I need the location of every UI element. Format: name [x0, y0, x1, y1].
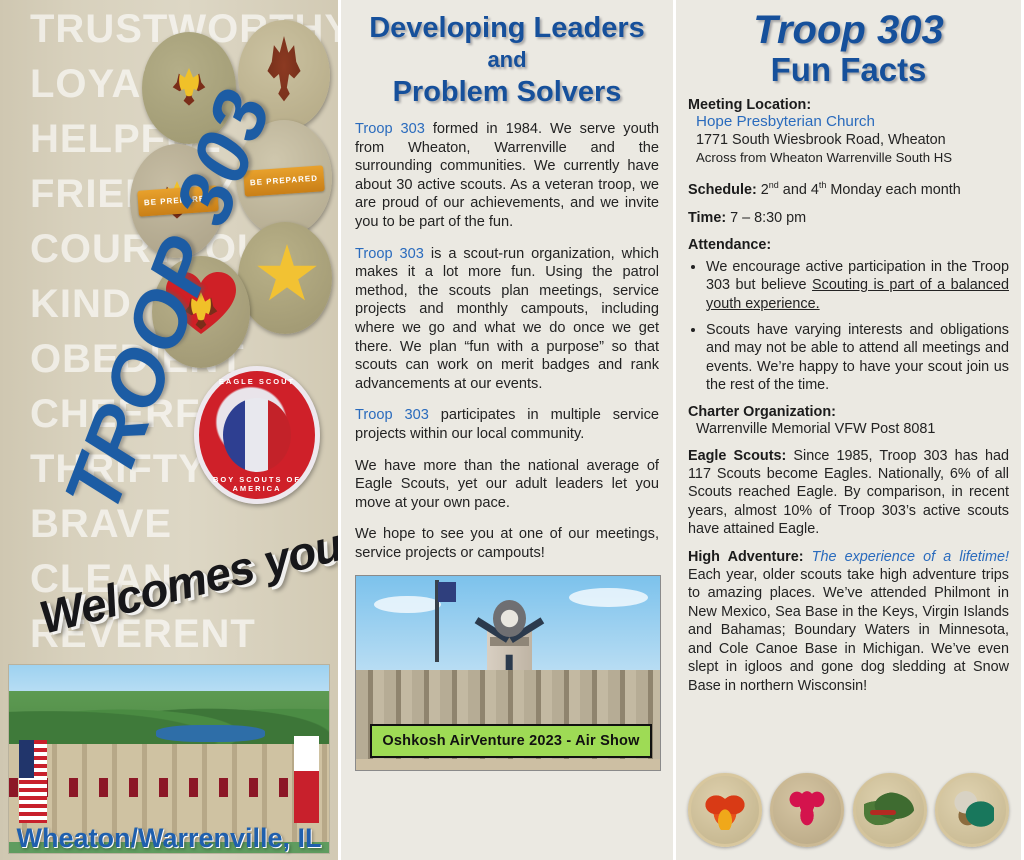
meeting-venue: Hope Presbyterian Church [688, 113, 1009, 131]
attendance-bullet-list: We encourage active participation in the… [688, 258, 1009, 395]
eagle-scouts-label: Eagle Scouts: [688, 448, 786, 464]
star-rank-badge-icon [238, 222, 332, 334]
troop-mention: Troop 303 [355, 407, 429, 423]
time-value: 7 – 8:30 pm [730, 210, 806, 226]
high-adventure-paragraph: High Adventure: The experience of a life… [688, 548, 1009, 695]
middle-heading-line3: Problem Solvers [393, 76, 622, 108]
fun-facts-title: Troop 303 [688, 8, 1009, 52]
patrol-patch-row [688, 774, 1009, 846]
charter-organization-label: Charter Organization: [688, 404, 1009, 420]
middle-heading-line2: and [355, 44, 659, 76]
left-photo-caption: Wheaton/Warrenville, IL [8, 823, 330, 854]
photo-lake [156, 725, 265, 742]
high-adventure-text: Each year, older scouts take high advent… [688, 567, 1009, 693]
eagle-patch-bottom-text: BOY SCOUTS OF AMERICA [199, 475, 315, 493]
schedule-value-pre: 2 [761, 182, 769, 198]
paragraph-text: is a scout-run organization, which makes… [355, 246, 659, 392]
middle-heading-line1: Developing Leaders [369, 12, 645, 44]
eagle-scouts-paragraph: Eagle Scouts: Since 1985, Troop 303 has … [688, 447, 1009, 539]
middle-photo-caption: Oshkosh AirVenture 2023 - Air Show [370, 724, 652, 758]
attendance-bullet: Scouts have varying interests and obliga… [706, 321, 1009, 395]
middle-paragraph: We have more than the national average o… [355, 457, 659, 513]
charter-organization-value: Warrenville Memorial VFW Post 8081 [688, 420, 1009, 438]
schedule-row: Schedule: 2nd and 4th Monday each month [688, 176, 1009, 200]
star-icon [256, 244, 318, 306]
oshkosh-airventure-photo: Oshkosh AirVenture 2023 - Air Show [355, 575, 661, 771]
attendance-label: Attendance: [688, 237, 1009, 253]
radial-engine-icon [493, 600, 526, 637]
middle-paragraph: Troop 303 formed in 1984. We serve youth… [355, 120, 659, 232]
troop-mention: Troop 303 [355, 121, 425, 137]
time-row: Time: 7 – 8:30 pm [688, 209, 1009, 228]
usa-flag-icon [19, 740, 48, 823]
tyrannosaurus-patrol-patch-icon [853, 773, 927, 847]
phoenix-patrol-patch-icon [688, 773, 762, 847]
high-adventure-tagline: The experience of a lifetime! [804, 549, 1009, 565]
photo-flag [438, 582, 456, 601]
middle-paragraph: Troop 303 is a scout-run organization, w… [355, 245, 659, 394]
sea-dragon-ship-patrol-patch-icon [935, 773, 1009, 847]
middle-panel: Developing Leaders and Problem Solvers T… [338, 0, 676, 860]
dinosaur-icon [864, 792, 914, 826]
fun-facts-subtitle: Fun Facts [688, 52, 1009, 88]
eagle-scout-patch-icon: EAGLE SCOUT BOY SCOUTS OF AMERICA [194, 366, 320, 504]
trifold-brochure: TRUSTWORTHY LOYAL HELPFUL FRIENDLY COURT… [0, 0, 1024, 860]
middle-paragraph: We hope to see you at one of our meeting… [355, 525, 659, 562]
phoenix-icon [705, 788, 745, 830]
troop-mention: Troop 303 [355, 246, 424, 262]
schedule-value-mid: and 4 [779, 182, 819, 198]
eagle-patch-top-text: EAGLE SCOUT [199, 377, 315, 386]
troop-flag-icon [294, 736, 320, 822]
right-panel: Troop 303 Fun Facts Meeting Location: Ho… [676, 0, 1021, 860]
high-adventure-label: High Adventure: [688, 549, 804, 565]
paragraph-text: formed in 1984. We serve youth from Whea… [355, 121, 659, 230]
scorpion-icon [789, 789, 825, 829]
photo-neckerchiefs [9, 778, 329, 797]
meeting-location-label: Meeting Location: [688, 97, 1009, 113]
middle-paragraph: Troop 303 participates in multiple servi… [355, 406, 659, 443]
attendance-bullet: We encourage active participation in the… [706, 258, 1009, 313]
eagle-patch-ring-text: EAGLE SCOUT BOY SCOUTS OF AMERICA [199, 371, 315, 499]
scorpion-patrol-patch-icon [770, 773, 844, 847]
middle-heading: Developing Leaders and Problem Solvers [355, 12, 659, 108]
sea-dragon-icon [950, 788, 994, 830]
meeting-note: Across from Wheaton Warrenville South HS [688, 149, 1009, 167]
left-panel: TRUSTWORTHY LOYAL HELPFUL FRIENDLY COURT… [0, 0, 338, 860]
schedule-ordinal-1: nd [769, 180, 779, 190]
meeting-address: 1771 South Wiesbrook Road, Wheaton [688, 131, 1009, 149]
schedule-value-post: Monday each month [826, 182, 960, 198]
time-label: Time: [688, 210, 726, 226]
schedule-label: Schedule: [688, 182, 757, 198]
